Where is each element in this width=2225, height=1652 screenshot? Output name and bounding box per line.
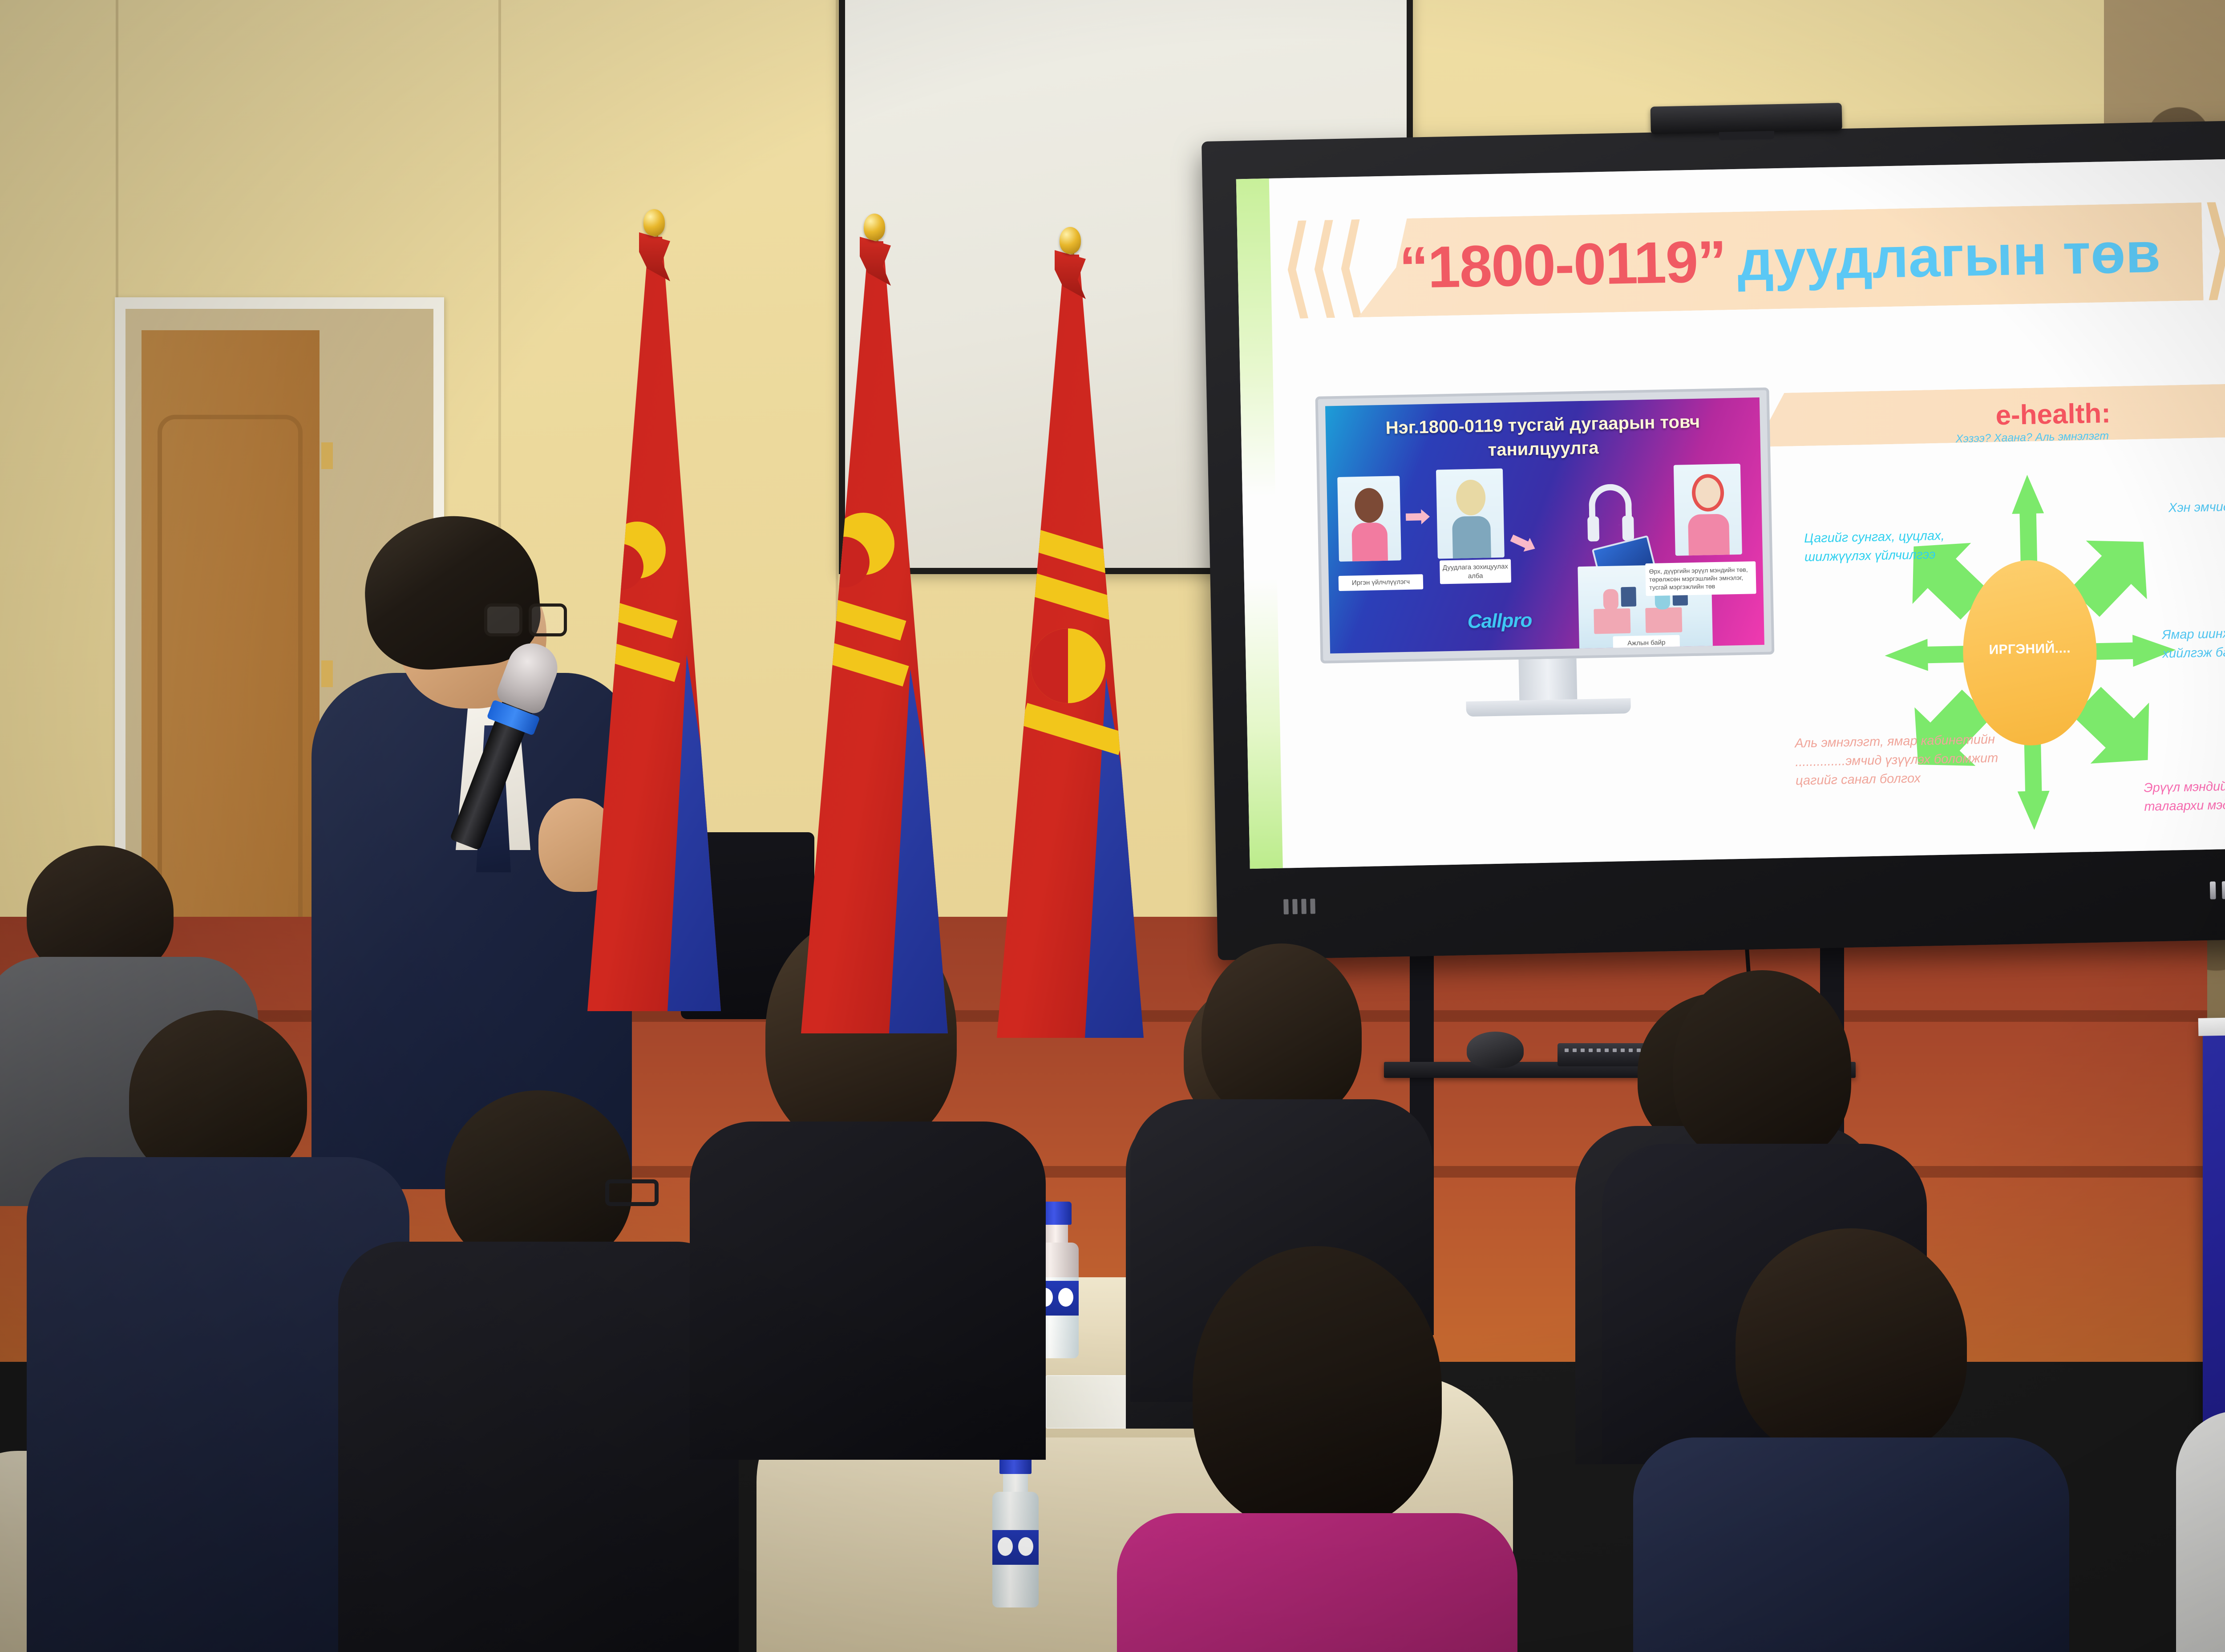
callpro-logo: Callpro [1467,609,1532,633]
flow-arrow-icon [1509,531,1538,555]
flag-finial-icon [864,214,885,240]
flag-cloth [997,255,1144,1038]
diagram-text-left-top: Цагийг сунгах, цуцлах, шилжүүлэх үйлчилг… [1804,526,1992,567]
eyeglasses-icon [484,603,569,642]
mockup-label-workplace: Ажлын байр [1613,635,1680,652]
flag-cloth [801,241,948,1033]
flow-arrow-icon [1406,509,1430,525]
audience-member [1090,1246,1535,1652]
title-number: “1800-0119” [1399,227,1727,301]
mongolian-flag [801,214,948,1086]
soyombo-bar [818,596,906,640]
monitor-content: Нэг.1800-0119 тусгай дугаарын товч танил… [1325,397,1764,653]
mockup-title: Нэг.1800-0119 тусгай дугаарын товч танил… [1326,409,1761,466]
diagram-text-right-top: Хэн эмчид үзүүлэн [2168,495,2225,518]
bottle-neck [1003,1474,1028,1492]
flag-blue-stripe [889,669,948,1033]
title-band: “1800-0119” дуудлагын төв [1356,202,2204,317]
tv-screen[interactable]: “1800-0119” дуудлагын төв e-health: [1236,157,2225,869]
diagram-center-label: ИРГЭНИЙ.... [1963,640,2097,658]
soyombo-bar [817,640,909,687]
persona-card-operator [1436,469,1505,559]
door-hinge [321,442,333,469]
mockup-label-dispatch: Дуудлага зохицуулах алба [1440,559,1511,584]
monitor-frame: Нэг.1800-0119 тусгай дугаарын товч танил… [1315,388,1775,664]
audience-member [2194,1286,2225,1652]
diagram-text-right-bottom: Эрүүл мэндийн даатгалын талаархи мэдээлэ… [2144,774,2225,816]
interactive-display[interactable]: “1800-0119” дуудлагын төв e-health: [1201,118,2225,960]
persona-card-agent [1674,464,1742,556]
soyombo-yinyang-half [1031,628,1068,703]
bottle-body [992,1492,1039,1607]
monitor-neck [1519,658,1578,700]
webcam-bar [1651,103,1842,134]
soyombo-moon-cut [819,537,870,587]
audience-member [365,1090,703,1652]
audience-member [1624,1228,2069,1652]
diagram-text-left-bottom: Аль эмнэлэгт, ямар кабинетийн ..........… [1795,730,2009,790]
ehealth-label: e-health: [1995,397,2111,431]
presentation-slide: “1800-0119” дуудлагын төв e-health: [1236,157,2225,869]
monitor-mockup: Нэг.1800-0119 тусгай дугаарын товч танил… [1315,388,1776,720]
mockup-label-facilities: Өрх, дүүргийн эрүүл мэндийн төв, төрөлжс… [1645,561,1756,596]
flag-finial-icon [1060,227,1081,254]
bottle-label [992,1530,1039,1565]
title-chevrons-right [2207,201,2225,300]
headset-icon [1589,484,1632,526]
arrow-down-icon [2016,741,2050,830]
conference-room-photo: “1800-0119” дуудлагын төв e-health: [0,0,2225,1652]
title-text: дуудлагын төв [1737,219,2161,293]
eyeglasses-icon [605,1179,659,1206]
audience-member [58,1010,369,1652]
soyombo-bar [1019,526,1120,575]
soyombo-bar [1017,570,1121,622]
title-chevrons-left [1287,219,1362,319]
water-bottle[interactable] [992,1451,1039,1607]
tv-control-buttons-right[interactable] [2210,880,2225,899]
flag-finial-icon [643,209,665,236]
persona-card-patient [1337,476,1401,562]
arrow-up-icon [2011,474,2045,563]
monitor-base [1466,698,1631,717]
mockup-label-citizen: Иргэн үйлчлүүлэгч [1339,574,1424,591]
diagram-text-right-mid: Ямар шинжилгээ, эмчилгээ хийлгэж байсан … [2162,622,2225,663]
mongolian-flag [997,227,1144,1099]
bottle-neck [1043,1225,1068,1243]
tv-control-buttons-left[interactable] [1283,899,1315,914]
computer-mouse[interactable] [1467,1032,1524,1068]
